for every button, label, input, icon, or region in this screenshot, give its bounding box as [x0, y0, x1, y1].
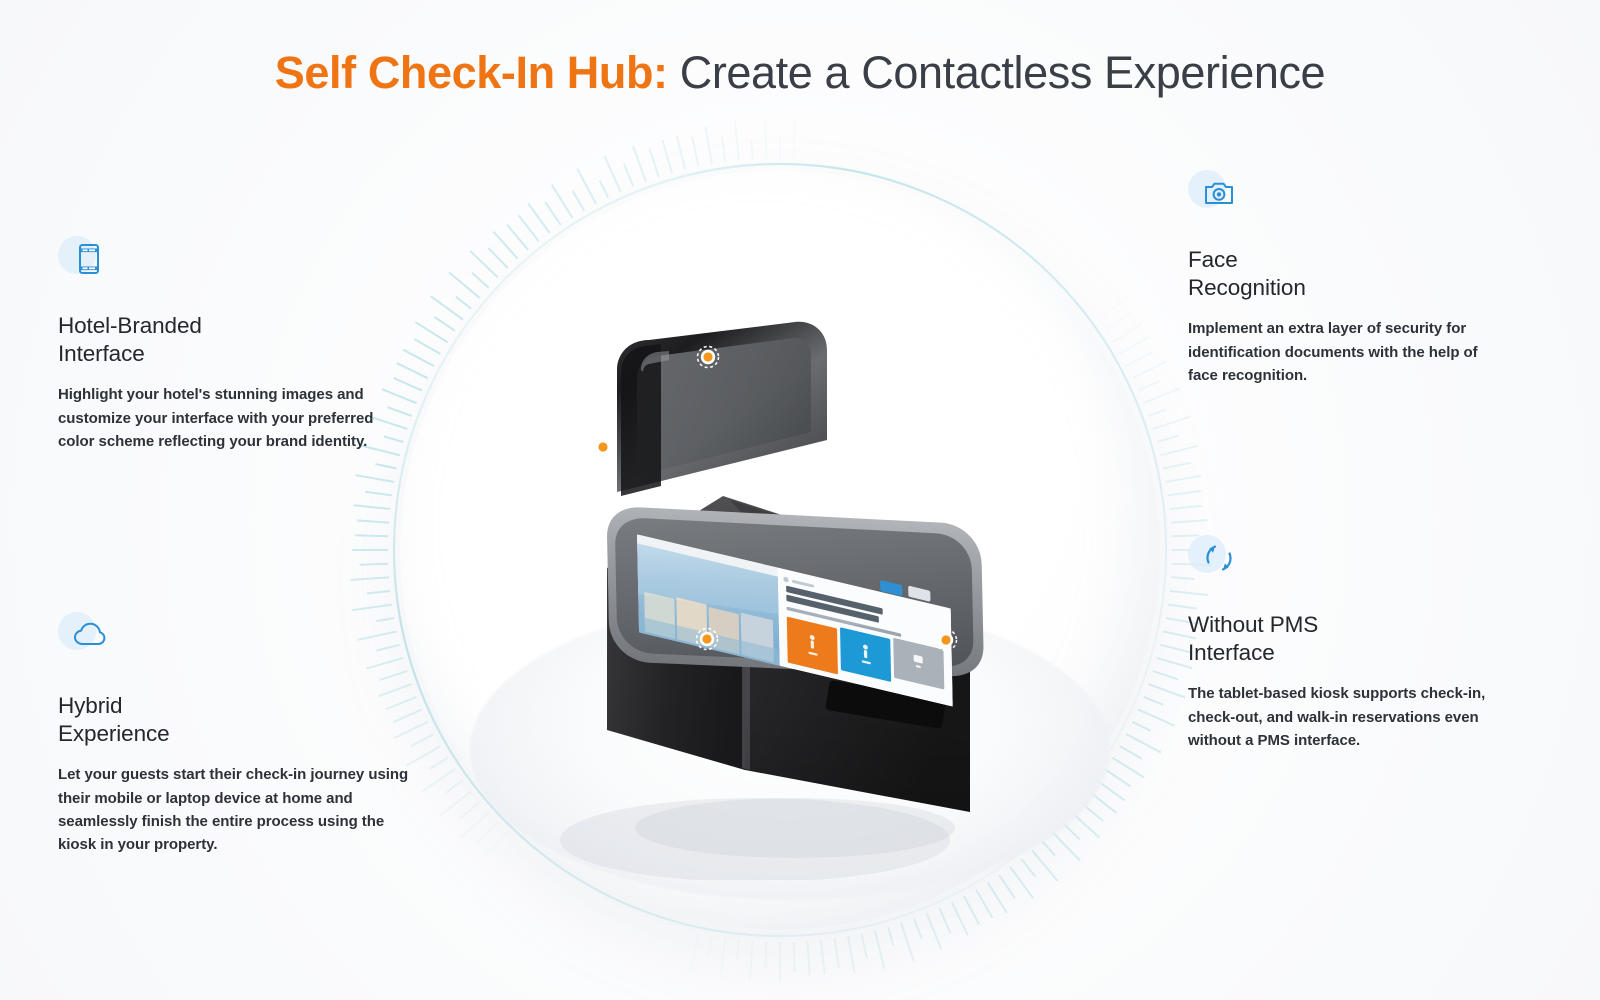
feature-title: Hybrid Experience: [58, 692, 413, 748]
feature-title: Without PMS Interface: [1188, 611, 1523, 667]
sync-arrows-icon-wrap: [1188, 533, 1244, 589]
cloud-icon: [72, 618, 106, 652]
tablet-icon: [72, 242, 106, 276]
tablet-icon-wrap: [58, 234, 114, 290]
feature-without-pms-interface: Without PMS Interface The tablet-based k…: [1188, 533, 1523, 752]
feature-body: Implement an extra layer of security for…: [1188, 317, 1488, 387]
infographic-canvas: Self Check-In Hub: Create a Contactless …: [0, 0, 1600, 1000]
feature-face-recognition: Face Recognition Implement an extra laye…: [1188, 168, 1488, 387]
feature-body: Let your guests start their check-in jou…: [58, 763, 413, 857]
feature-body: The tablet-based kiosk supports check-in…: [1188, 682, 1523, 752]
hotspot-hybrid-experience[interactable]: [697, 629, 718, 650]
hotspot-hotel-branded[interactable]: [593, 437, 614, 458]
camera-icon-wrap: [1188, 168, 1244, 224]
sync-arrows-icon: [1202, 541, 1236, 575]
camera-icon: [1202, 176, 1236, 210]
feature-hotel-branded-interface: Hotel-Branded Interface Highlight your h…: [58, 234, 388, 453]
feature-body: Highlight your hotel's stunning images a…: [58, 383, 388, 453]
hotspot-without-pms[interactable]: [936, 630, 957, 651]
feature-title: Hotel-Branded Interface: [58, 312, 388, 368]
feature-title: Face Recognition: [1188, 246, 1488, 302]
hotspot-face-recognition[interactable]: [698, 347, 719, 368]
cloud-icon-wrap: [58, 610, 114, 666]
feature-hybrid-experience: Hybrid Experience Let your guests start …: [58, 610, 413, 857]
